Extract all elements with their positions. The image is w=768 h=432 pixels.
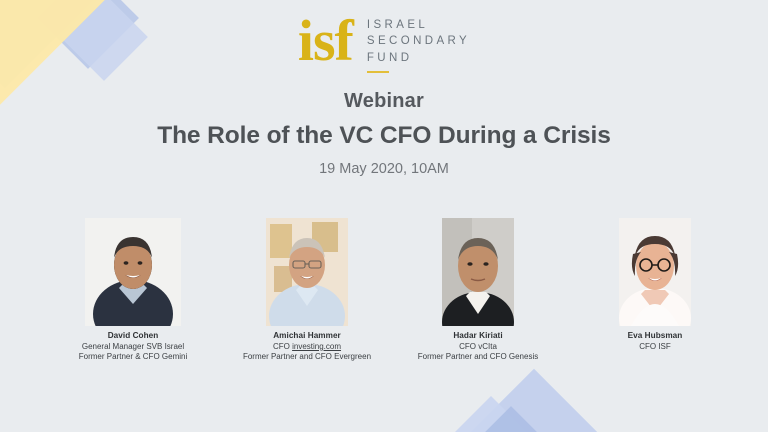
logo-line-fund: FUND xyxy=(367,50,470,66)
title-block: Webinar The Role of the VC CFO During a … xyxy=(0,90,768,177)
page-title: The Role of the VC CFO During a Crisis xyxy=(0,122,768,150)
webinar-kicker: Webinar xyxy=(0,90,768,113)
speaker-role-link[interactable]: investing.com xyxy=(292,342,341,351)
speaker-photo-david-cohen xyxy=(85,218,181,326)
logo-underline-rule xyxy=(367,71,389,74)
isf-logo-mark: isf xyxy=(298,12,353,70)
speaker-name: Eva Hubsman xyxy=(548,331,762,342)
webinar-slide: isf ISRAEL SECONDARY FUND Webinar The Ro… xyxy=(0,0,768,432)
speaker-card: Eva Hubsman CFO ISF xyxy=(548,218,762,352)
isf-logo-wordmark: ISRAEL SECONDARY FUND xyxy=(367,10,470,73)
speaker-list: David Cohen General Manager SVB Israel F… xyxy=(0,218,768,388)
decor-square-blue-bottom-mid xyxy=(450,396,532,432)
speaker-role-prefix: CFO xyxy=(273,342,292,351)
webinar-date: 19 May 2020, 10AM xyxy=(0,161,768,177)
logo-line-israel: ISRAEL xyxy=(367,17,470,33)
speaker-role-line-2: Former Partner and CFO Genesis xyxy=(371,352,585,363)
logo-line-secondary: SECONDARY xyxy=(367,33,470,49)
speaker-role-line-1: CFO ISF xyxy=(548,342,762,353)
speaker-photo-eva-hubsman xyxy=(619,218,691,326)
speaker-caption: Eva Hubsman CFO ISF xyxy=(548,331,762,352)
isf-logo: isf ISRAEL SECONDARY FUND xyxy=(0,10,768,73)
decor-square-blue-bottom-small xyxy=(484,406,538,432)
speaker-photo-amichai-hammer xyxy=(266,218,348,326)
speaker-photo-hadar-kiriati xyxy=(442,218,514,326)
